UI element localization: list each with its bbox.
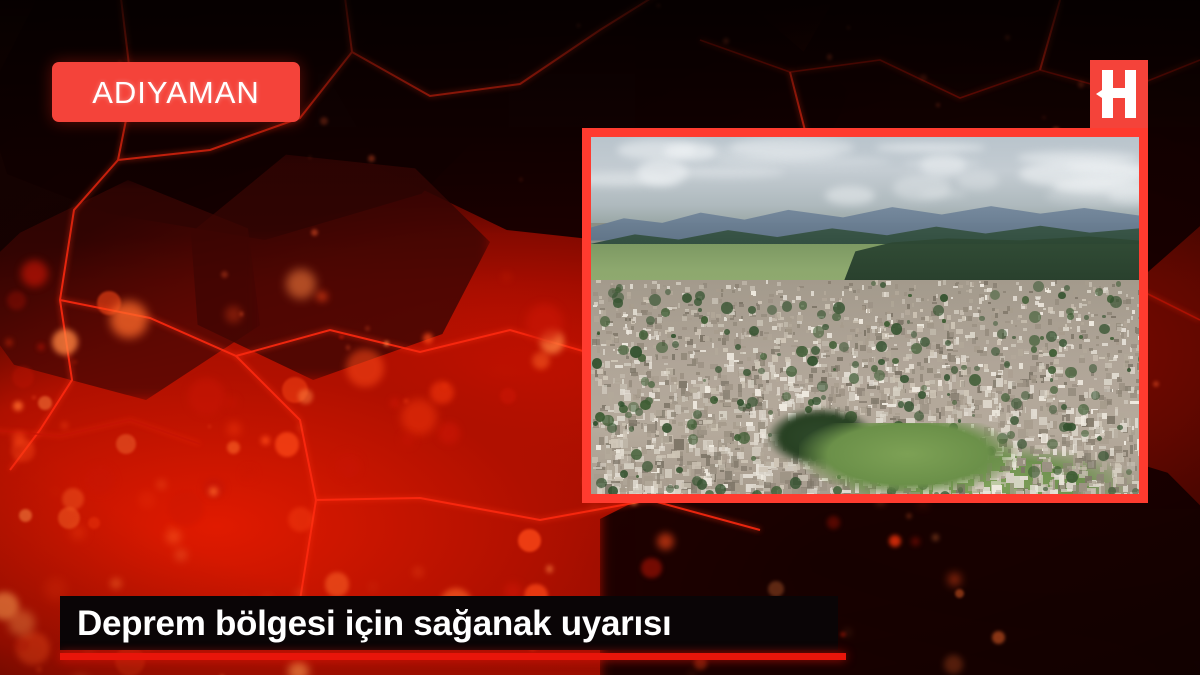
photo-building xyxy=(741,381,744,388)
photo-building xyxy=(959,342,964,348)
photo-building xyxy=(869,358,874,362)
photo-tree-clump xyxy=(1098,451,1109,462)
bokeh-dot xyxy=(157,480,166,489)
photo-building xyxy=(723,289,726,293)
bokeh-dot xyxy=(12,366,34,388)
bokeh-dot xyxy=(402,435,413,446)
photo-tree-clump xyxy=(705,490,714,494)
photo-building xyxy=(674,439,684,450)
photo-building xyxy=(984,281,989,284)
photo-building xyxy=(1124,418,1127,423)
photo-building xyxy=(703,336,710,341)
photo-building xyxy=(909,364,915,369)
photo-building xyxy=(1070,327,1073,329)
photo-building xyxy=(650,413,654,422)
photo-building xyxy=(791,345,797,347)
bokeh-dot xyxy=(768,581,784,597)
photo-building xyxy=(1104,386,1110,392)
bokeh-dot xyxy=(225,397,237,409)
photo-card xyxy=(582,128,1148,503)
photo-cloud xyxy=(957,171,999,190)
photo-building xyxy=(806,330,809,333)
photo-tree-clump xyxy=(817,310,826,319)
photo-building xyxy=(905,334,911,338)
photo-building xyxy=(1050,421,1054,428)
bokeh-dot xyxy=(225,306,242,323)
photo-cloud xyxy=(730,137,854,158)
photo-building xyxy=(956,329,962,335)
photo-building xyxy=(960,397,964,406)
bokeh-sparkle xyxy=(320,117,328,125)
photo-building xyxy=(828,281,831,284)
bokeh-dot xyxy=(88,517,100,529)
photo-tree-clump xyxy=(662,423,672,433)
caption-headline: Deprem bölgesi için sağanak uyarısı xyxy=(60,606,671,641)
bokeh-sparkle xyxy=(309,156,311,158)
photo-building xyxy=(956,282,959,284)
photo-tree-clump xyxy=(951,366,958,373)
photo-tree-clump xyxy=(1066,471,1078,483)
photo-building xyxy=(847,335,852,340)
photo-tree-clump xyxy=(1099,324,1110,335)
photo-building xyxy=(662,356,668,359)
photo-building xyxy=(738,288,741,291)
photo-building xyxy=(893,387,901,392)
photo-building xyxy=(811,368,818,373)
photo-building xyxy=(849,387,851,392)
photo-tree-clump xyxy=(676,467,682,473)
photo-tree-clump xyxy=(661,308,670,317)
photo-building xyxy=(723,390,730,399)
photo-building xyxy=(723,335,729,342)
photo-building xyxy=(1055,299,1059,304)
photo-building xyxy=(951,297,953,299)
photo-tree-clump xyxy=(777,353,781,357)
photo-building xyxy=(623,390,630,394)
photo-building xyxy=(862,359,868,361)
photo-building xyxy=(868,286,873,289)
photo-building xyxy=(825,304,830,309)
news-card: ADIYAMAN Deprem bölgesi için sağanak uya… xyxy=(0,0,1200,675)
photo-building xyxy=(602,385,607,393)
photo-building xyxy=(652,281,657,284)
photo-building xyxy=(1052,395,1058,398)
photo-building xyxy=(912,369,915,373)
photo-building xyxy=(768,334,772,340)
photo-building xyxy=(1017,317,1020,320)
photo-building xyxy=(699,285,704,289)
photo-building xyxy=(716,314,721,318)
photo-building xyxy=(891,301,894,306)
photo-building xyxy=(1089,321,1093,326)
bokeh-sparkle xyxy=(520,178,522,180)
photo-building xyxy=(879,322,883,326)
photo-building xyxy=(735,484,746,494)
photo-tree-clump xyxy=(1049,349,1057,357)
caption-underline xyxy=(60,653,846,660)
bokeh-dot xyxy=(907,514,911,518)
photo-tree-clump xyxy=(767,305,777,315)
photo-tree-clump xyxy=(898,401,905,408)
photo-building xyxy=(862,363,864,368)
brand-logo[interactable] xyxy=(1090,60,1148,128)
photo-building xyxy=(947,315,951,320)
photo-building xyxy=(761,314,767,317)
photo-building xyxy=(969,306,972,311)
photo-building xyxy=(876,336,882,339)
bokeh-dot xyxy=(889,535,901,547)
photo-building xyxy=(792,300,796,302)
photo-tree-clump xyxy=(1058,292,1065,299)
photo-building xyxy=(644,476,653,487)
bokeh-dot xyxy=(944,655,963,674)
photo-building xyxy=(1135,418,1138,428)
city-badge-label: ADIYAMAN xyxy=(92,77,260,108)
photo-building xyxy=(684,410,689,413)
photo-building xyxy=(966,358,970,362)
photo-building xyxy=(797,375,802,381)
bokeh-dot xyxy=(390,398,400,408)
photo-building xyxy=(618,438,628,448)
bokeh-dot xyxy=(657,533,674,550)
photo-building xyxy=(973,313,979,316)
bokeh-sparkle xyxy=(936,103,940,107)
photo-building xyxy=(887,404,896,407)
photo-building xyxy=(905,310,910,315)
photo-building xyxy=(886,281,891,286)
photo-building xyxy=(938,281,940,285)
photo-building xyxy=(698,362,704,367)
photo-building xyxy=(849,288,852,291)
photo-tree-clump xyxy=(1061,404,1067,410)
bokeh-sparkle xyxy=(311,229,318,236)
photo-building xyxy=(1055,280,1057,285)
photo-tree-clump xyxy=(748,306,756,314)
photo-building xyxy=(692,359,696,366)
photo-tree-clump xyxy=(630,346,642,358)
photo-tree-clump xyxy=(641,377,649,385)
bokeh-sparkle xyxy=(32,396,36,400)
photo-building xyxy=(824,291,826,296)
photo-building xyxy=(655,421,657,430)
photo-building xyxy=(632,321,634,323)
photo-building xyxy=(676,282,680,286)
photo-building xyxy=(1019,363,1024,369)
photo-tree-clump xyxy=(1059,339,1067,347)
photo-building xyxy=(936,344,940,349)
photo-building xyxy=(1083,349,1087,353)
photo-building xyxy=(1127,319,1130,323)
photo-building xyxy=(1073,290,1077,295)
photo-building xyxy=(860,345,866,351)
photo-building xyxy=(613,460,621,465)
photo-building xyxy=(789,324,792,327)
photo-building xyxy=(710,468,716,474)
photo-building xyxy=(626,356,629,358)
photo-building xyxy=(626,330,632,334)
photo-building xyxy=(916,298,922,302)
photo-building xyxy=(925,316,929,321)
photo-building xyxy=(824,350,830,352)
photo-building xyxy=(1131,316,1134,320)
photo-building xyxy=(951,322,955,328)
photo-building xyxy=(855,296,858,300)
photo-building xyxy=(989,415,992,422)
photo-tree-clump xyxy=(1081,430,1088,437)
photo-building xyxy=(1088,301,1091,304)
photo-building xyxy=(671,377,677,382)
photo-building xyxy=(837,357,843,361)
photo-cloud xyxy=(637,159,688,187)
photo-building xyxy=(1016,282,1020,285)
photo-building xyxy=(1017,340,1023,343)
photo-building xyxy=(659,332,662,337)
photo-building xyxy=(1122,339,1126,345)
photo-tree-clump xyxy=(942,319,945,322)
photo-building xyxy=(894,344,897,347)
bokeh-dot xyxy=(52,329,78,355)
photo-building xyxy=(893,399,896,404)
photo-building xyxy=(1130,401,1139,404)
photo-building xyxy=(1010,308,1013,312)
photo-building xyxy=(792,352,795,355)
photo-building xyxy=(1005,321,1010,323)
bokeh-dot xyxy=(175,549,187,561)
photo-building xyxy=(859,319,862,324)
bokeh-dot xyxy=(298,426,302,430)
photo-building xyxy=(853,356,856,358)
bokeh-sparkle xyxy=(827,54,832,59)
photo-building xyxy=(1077,326,1080,332)
photo-tree-clump xyxy=(907,320,910,323)
bokeh-dot xyxy=(14,637,29,652)
photo-building xyxy=(867,376,869,383)
photo-tree-clump xyxy=(1065,367,1076,378)
photo-building xyxy=(930,350,935,356)
photo-tree-clump xyxy=(735,344,741,350)
bokeh-dot xyxy=(334,452,361,479)
photo-building xyxy=(816,364,821,367)
photo-building xyxy=(1124,493,1127,494)
bokeh-dot xyxy=(6,339,12,345)
photo-tree-clump xyxy=(743,369,750,376)
photo-building xyxy=(1061,489,1072,492)
photo-building xyxy=(724,364,728,366)
photo-building xyxy=(784,332,788,338)
photo-tree-clump xyxy=(832,313,841,322)
photo-building xyxy=(1094,378,1097,380)
photo-building xyxy=(733,322,737,326)
photo-building xyxy=(593,292,598,296)
photo-building xyxy=(1079,358,1085,364)
photo-building xyxy=(966,367,970,374)
photo-building xyxy=(660,466,662,474)
photo-building xyxy=(740,474,743,485)
bokeh-dot xyxy=(261,436,270,445)
photo-building xyxy=(627,479,633,491)
photo-tree-clump xyxy=(904,401,915,412)
photo-building xyxy=(654,331,658,337)
photo-building xyxy=(914,285,917,289)
photo-building xyxy=(1003,347,1008,350)
photo-tree-clump xyxy=(724,329,730,335)
photo-building xyxy=(875,328,881,332)
photo-building xyxy=(941,395,943,398)
photo-tree-clump xyxy=(1029,311,1041,323)
photo-building xyxy=(1003,291,1006,293)
bokeh-sparkle xyxy=(221,271,228,278)
photo-building xyxy=(641,310,647,312)
photo-building xyxy=(762,394,764,400)
bokeh-dot xyxy=(286,269,316,299)
photo-building xyxy=(1081,330,1086,333)
bokeh-dot xyxy=(384,341,388,345)
photo-building xyxy=(595,378,599,381)
photo-building xyxy=(1111,462,1116,471)
photo-building xyxy=(964,408,972,415)
photo-building xyxy=(1114,355,1118,358)
photo-building xyxy=(691,380,695,384)
photo-building xyxy=(1001,358,1005,362)
photo-building xyxy=(872,347,874,349)
photo-tree-clump xyxy=(1050,386,1059,395)
photo-building xyxy=(694,327,697,332)
photo-building xyxy=(954,414,957,421)
photo-building xyxy=(776,338,779,345)
photo-tree-clump xyxy=(1029,335,1040,346)
bokeh-dot xyxy=(86,466,114,494)
photo-building xyxy=(592,380,594,388)
photo-building xyxy=(1093,355,1098,362)
photo-building xyxy=(787,335,792,338)
photo-building xyxy=(596,280,601,282)
photo-tree-clump xyxy=(876,341,887,352)
bokeh-dot xyxy=(500,388,516,404)
photo-building xyxy=(963,307,968,313)
photo-building xyxy=(740,352,743,354)
photo-building xyxy=(1138,290,1139,295)
photo-building xyxy=(738,384,742,392)
photo-building xyxy=(657,462,661,465)
photo-building xyxy=(1076,379,1078,384)
photo-building xyxy=(633,490,644,494)
photo-cloud xyxy=(664,142,716,161)
bokeh-dot xyxy=(249,478,254,483)
photo-building xyxy=(1114,339,1119,341)
photo-building xyxy=(864,300,868,303)
photo-building xyxy=(1053,449,1057,455)
bokeh-dot xyxy=(298,389,313,404)
photo-building xyxy=(656,431,659,436)
photo-building xyxy=(1003,311,1008,314)
photo-building xyxy=(1107,353,1110,357)
bokeh-dot xyxy=(339,335,343,339)
photo-building xyxy=(769,294,774,297)
photo-cloud xyxy=(715,156,890,167)
photo-building xyxy=(659,382,665,385)
photo-cloud xyxy=(893,175,951,201)
photo-tree-clump xyxy=(852,361,859,368)
photo-building xyxy=(649,362,652,368)
photo-building xyxy=(862,306,864,311)
photo-building xyxy=(674,393,677,401)
photo-building xyxy=(1103,426,1109,431)
photo-building xyxy=(682,316,686,321)
photo-building xyxy=(637,389,641,397)
photo-building xyxy=(685,287,690,291)
photo-tree-clump xyxy=(900,375,908,383)
photo-building xyxy=(785,357,789,362)
photo-building xyxy=(823,355,830,357)
photo-building xyxy=(902,299,905,304)
photo-building xyxy=(1127,330,1129,337)
photo-tree-clump xyxy=(1040,336,1044,340)
photo-building xyxy=(1107,399,1112,405)
photo-building xyxy=(695,448,701,456)
photo-building xyxy=(592,339,598,345)
bokeh-dot xyxy=(526,304,563,341)
photo-building xyxy=(895,291,899,296)
photo-building xyxy=(748,380,754,388)
bokeh-sparkle xyxy=(346,345,350,349)
photo-building xyxy=(1105,431,1111,439)
photo-building xyxy=(699,421,702,424)
photo-building xyxy=(956,407,960,411)
photo-building xyxy=(1137,439,1139,450)
photo-tree-clump xyxy=(642,461,653,472)
photo-building xyxy=(608,410,614,412)
photo-tree-clump xyxy=(871,281,876,286)
photo-building xyxy=(739,304,744,307)
photo-building xyxy=(1077,440,1083,445)
photo-building xyxy=(1131,344,1137,348)
photo-building xyxy=(621,456,631,465)
photo-building xyxy=(593,467,602,469)
photo-tree-clump xyxy=(688,434,698,444)
photo-tree-clump xyxy=(993,321,999,327)
photo-building xyxy=(828,373,833,377)
bokeh-dot xyxy=(949,574,960,585)
bokeh-sparkle xyxy=(1005,35,1010,40)
photo-building xyxy=(1049,457,1051,462)
photo-building xyxy=(603,376,608,381)
photo-building xyxy=(712,474,715,484)
photo-building xyxy=(877,386,880,390)
photo-building xyxy=(727,353,733,360)
photo-building xyxy=(797,287,800,291)
photo-tree-clump xyxy=(1108,487,1116,494)
photo-building xyxy=(1011,344,1016,347)
photo-building xyxy=(1099,446,1106,449)
photo-tree-clump xyxy=(608,486,618,494)
photo-tree-clump xyxy=(945,340,951,346)
photo-building xyxy=(884,388,889,395)
photo-building xyxy=(708,414,712,417)
photo-building xyxy=(611,360,618,363)
photo-building xyxy=(966,316,972,320)
photo-building xyxy=(959,285,963,288)
photo-building xyxy=(870,393,875,396)
photo-tree-clump xyxy=(833,368,836,371)
photo-tree-clump xyxy=(1132,488,1139,494)
photo-tree-clump xyxy=(1097,436,1102,441)
photo-building xyxy=(1138,451,1139,456)
photo-building xyxy=(1081,322,1084,325)
photo-building xyxy=(975,405,979,410)
photo-building xyxy=(666,368,673,375)
photo-building xyxy=(1129,435,1133,442)
bokeh-dot xyxy=(275,432,300,457)
